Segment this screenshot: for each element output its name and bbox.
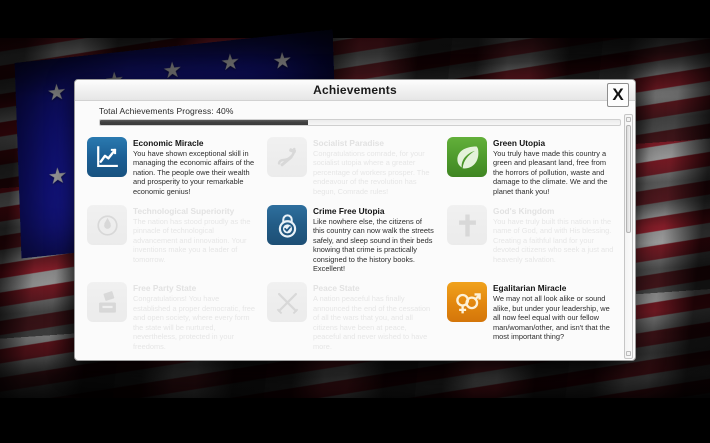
achievement-text: Economic MiracleYou have shown exception… xyxy=(133,137,255,196)
crossed-swords-icon xyxy=(267,282,307,322)
dialog-titlebar: Achievements xyxy=(75,80,635,101)
achievement-item[interactable]: Poverty EradicatedNobody cheers as loud … xyxy=(443,356,621,361)
achievement-item[interactable]: SecureProtecting human problems and pers… xyxy=(263,356,441,361)
close-button[interactable]: X xyxy=(607,83,629,107)
achievement-description: The nation has stood proudly as the pinn… xyxy=(133,217,255,264)
achievement-text: Egalitarian MiracleWe may not all look a… xyxy=(493,282,615,341)
achievement-item[interactable]: Crime Free UtopiaLike nowhere else, the … xyxy=(263,201,441,277)
achievement-item[interactable]: God's KingdomYou have truly built this n… xyxy=(443,201,621,277)
achievement-text: Peace StateA nation peaceful has finally… xyxy=(313,282,435,350)
achievement-item[interactable]: Peace StateA nation peaceful has finally… xyxy=(263,278,441,354)
cross-icon xyxy=(447,205,487,245)
achievement-item[interactable]: Egalitarian MiracleWe may not all look a… xyxy=(443,278,621,354)
achievement-text: Free Nuclear ParadiseHas the intention o… xyxy=(133,360,255,361)
achievement-text: Socialist ParadiseCongratulations comrad… xyxy=(313,137,435,196)
achievement-item[interactable]: Green UtopiaYou truly have made this cou… xyxy=(443,133,621,200)
achievement-title: Egalitarian Miracle xyxy=(493,283,615,293)
padlock-check-icon xyxy=(267,205,307,245)
achievement-description: Like nowhere else, the citizens of this … xyxy=(313,217,435,273)
achievement-text: Poverty EradicatedNobody cheers as loud … xyxy=(493,360,615,361)
scroll-up-arrow-icon[interactable] xyxy=(626,117,631,122)
achievement-item[interactable]: Economic MiracleYou have shown exception… xyxy=(83,133,261,200)
progress-bar-fill xyxy=(100,120,308,125)
achievements-grid: Economic MiracleYou have shown exception… xyxy=(83,133,621,361)
progress-section: Total Achievements Progress: 40% xyxy=(75,101,635,126)
achievement-title: Economic Miracle xyxy=(133,138,255,148)
achievement-title: Free Party State xyxy=(133,283,255,293)
ballot-box-icon xyxy=(87,282,127,322)
achievement-description: You have truly built this nation in the … xyxy=(493,217,615,264)
shield-check-icon xyxy=(267,360,307,361)
achievement-text: Crime Free UtopiaLike nowhere else, the … xyxy=(313,205,435,273)
achievement-text: SecureProtecting human problems and pers… xyxy=(313,360,435,361)
achievement-text: God's KingdomYou have truly built this n… xyxy=(493,205,615,264)
leaf-icon xyxy=(447,137,487,177)
achievement-description: We may not all look alike or sound alike… xyxy=(493,294,615,341)
achievement-item[interactable]: Free Nuclear ParadiseHas the intention o… xyxy=(83,356,261,361)
achievement-title: Technological Superiority xyxy=(133,206,255,216)
achievement-item[interactable]: Technological SuperiorityThe nation has … xyxy=(83,201,261,277)
achievement-description: You truly have made this country a green… xyxy=(493,149,615,196)
achievement-title: Green Utopia xyxy=(493,138,615,148)
achievement-title: Socialist Paradise xyxy=(313,138,435,148)
achievement-text: Green UtopiaYou truly have made this cou… xyxy=(493,137,615,196)
achievement-description: A nation peaceful has finally announced … xyxy=(313,294,435,350)
achievement-title: Crime Free Utopia xyxy=(313,206,435,216)
achievements-scroll-area[interactable]: Economic MiracleYou have shown exception… xyxy=(75,133,636,361)
gender-symbols-icon xyxy=(447,282,487,322)
achievement-item[interactable]: Free Party StateCongratulations! You hav… xyxy=(83,278,261,354)
achievement-title: Peace State xyxy=(313,283,435,293)
achievement-item[interactable]: Socialist ParadiseCongratulations comrad… xyxy=(263,133,441,200)
vertical-scrollbar[interactable] xyxy=(624,114,633,359)
achievement-text: Free Party StateCongratulations! You hav… xyxy=(133,282,255,350)
scrollbar-thumb[interactable] xyxy=(626,125,631,233)
achievement-title: God's Kingdom xyxy=(493,206,615,216)
achievement-description: Congratulations! You have established a … xyxy=(133,294,255,350)
line-chart-icon xyxy=(87,137,127,177)
progress-bar xyxy=(99,119,621,126)
helping-hands-icon xyxy=(447,360,487,361)
dialog-title: Achievements xyxy=(75,80,635,101)
atom-icon xyxy=(87,205,127,245)
achievement-description: Congratulations comrade, for your social… xyxy=(313,149,435,196)
scroll-down-arrow-icon[interactable] xyxy=(626,351,631,356)
achievement-description: You have shown exceptional skill in mana… xyxy=(133,149,255,196)
achievement-text: Technological SuperiorityThe nation has … xyxy=(133,205,255,264)
hammer-sickle-icon xyxy=(267,137,307,177)
radiation-icon xyxy=(87,360,127,361)
achievements-dialog: Achievements X Total Achievements Progre… xyxy=(74,79,636,361)
progress-label: Total Achievements Progress: 40% xyxy=(99,106,621,116)
